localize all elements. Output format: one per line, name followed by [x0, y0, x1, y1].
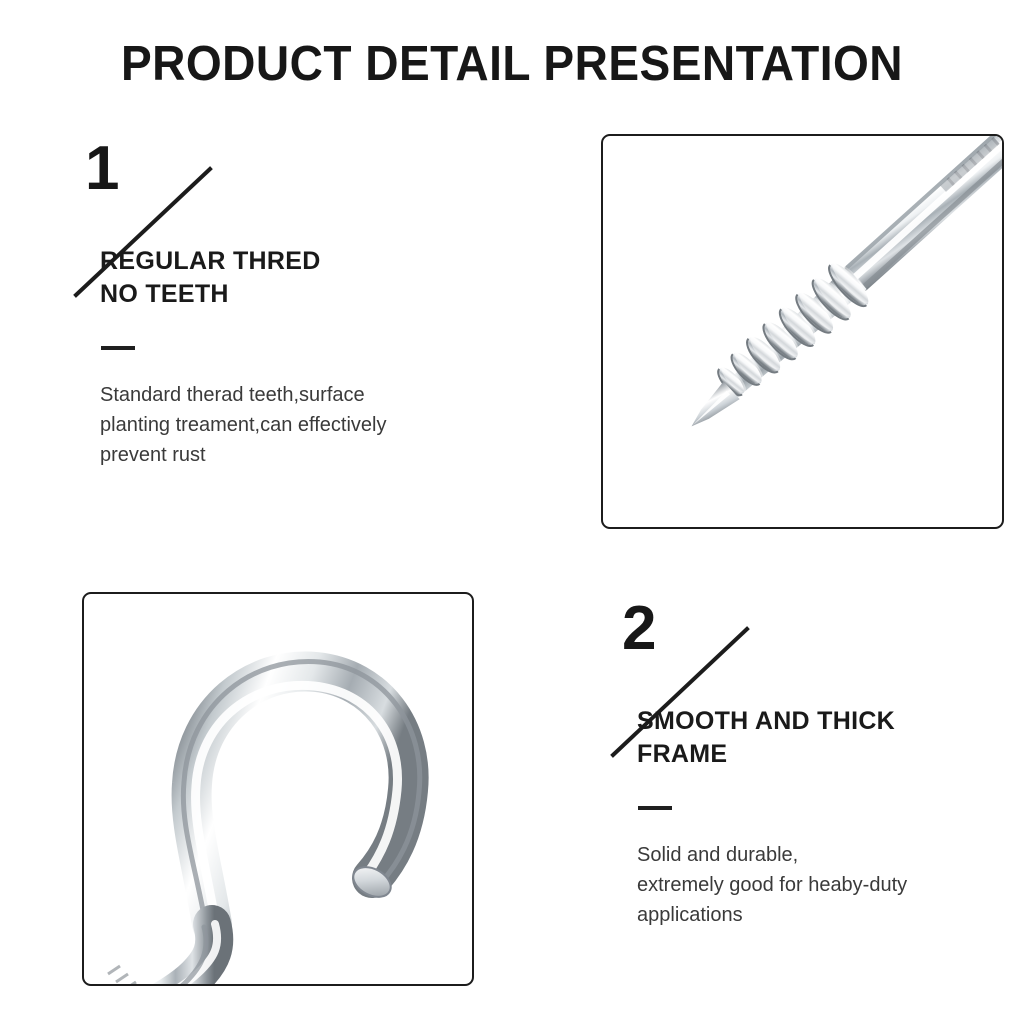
feature-number-2: 2: [622, 598, 656, 660]
feature-heading-1-line1: REGULAR THRED: [100, 247, 321, 275]
feature-body-1-line1: Standard therad teeth,surface: [100, 380, 520, 410]
feature-heading-1: REGULAR THRED NO TEETH: [100, 245, 500, 311]
feature-divider-1: [101, 346, 135, 350]
cup-hook-illustration: [84, 594, 472, 984]
feature-body-1-line2: planting treament,can effectively: [100, 410, 520, 440]
feature-body-1: Standard therad teeth,surface planting t…: [100, 380, 520, 470]
feature-body-1-line3: prevent rust: [100, 440, 520, 470]
feature-body-2-line2: extremely good for heaby-duty: [637, 870, 1024, 900]
feature-heading-2-line1: SMOOTH AND THICK: [637, 707, 895, 735]
product-photo-cup-hook: [82, 592, 474, 986]
feature-body-2-line3: applications: [637, 900, 1024, 930]
presentation-page: PRODUCT DETAIL PRESENTATION 1 REGULAR TH…: [0, 0, 1024, 1024]
feature-body-2: Solid and durable, extremely good for he…: [637, 840, 1024, 930]
feature-body-2-line1: Solid and durable,: [637, 840, 1024, 870]
screw-thread-illustration: [603, 136, 1002, 527]
page-title: PRODUCT DETAIL PRESENTATION: [31, 36, 994, 92]
feature-divider-2: [638, 806, 672, 810]
feature-heading-1-line2: NO TEETH: [100, 278, 500, 311]
feature-number-1: 1: [85, 138, 119, 200]
feature-heading-2-line2: FRAME: [637, 738, 1024, 771]
feature-heading-2: SMOOTH AND THICK FRAME: [637, 705, 1024, 771]
product-photo-screw-thread: [601, 134, 1004, 529]
